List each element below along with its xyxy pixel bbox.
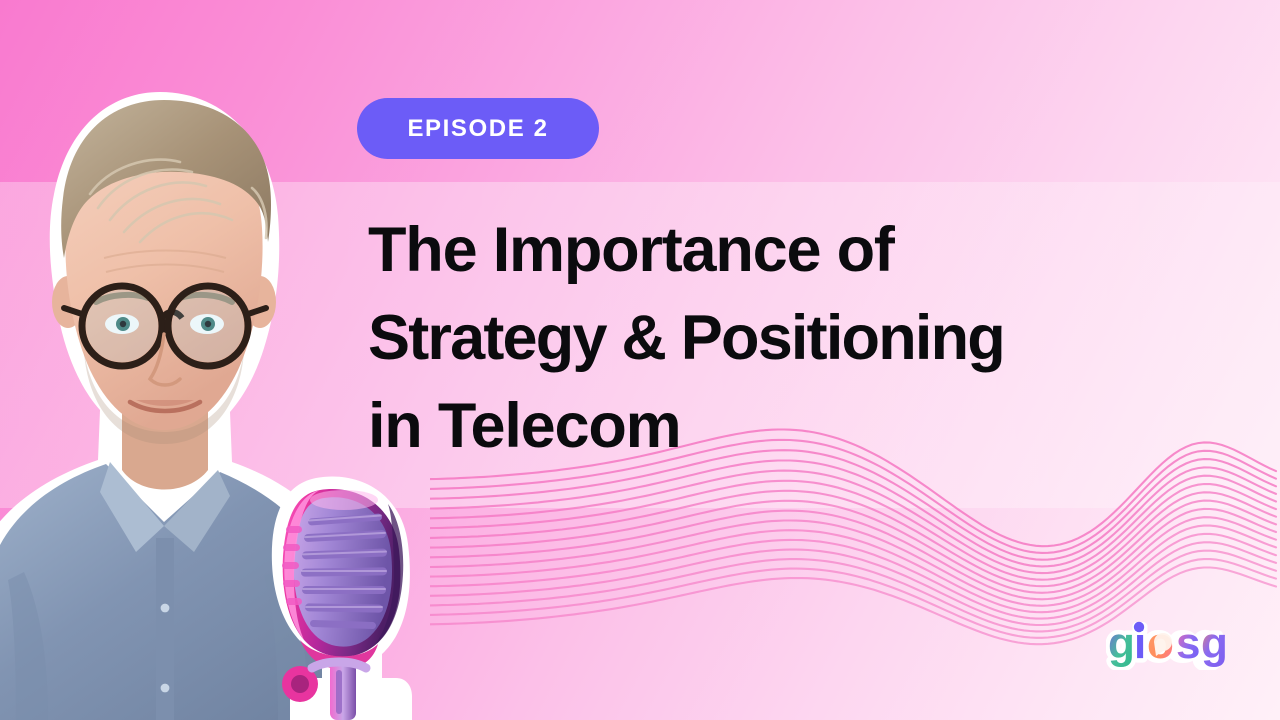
page-title: The Importance of Strategy & Positioning… <box>368 206 1248 470</box>
microphone-stem <box>330 662 356 720</box>
logo-letter-g2: g <box>1201 619 1227 668</box>
episode-badge-label: EPISODE 2 <box>407 115 548 143</box>
logo-i-dot <box>1134 622 1144 632</box>
logo-letter-g1: g <box>1108 619 1134 668</box>
episode-badge[interactable]: EPISODE 2 <box>357 98 599 159</box>
giosg-logo[interactable]: giosg g i o s g <box>1106 614 1248 670</box>
microphone-icon <box>256 472 432 720</box>
page-title-line-2: Strategy & Positioning <box>368 294 1248 382</box>
portrait-shirt-button <box>161 684 170 693</box>
logo-letter-s: s <box>1176 619 1199 668</box>
page-title-line-1: The Importance of <box>368 206 1248 294</box>
microphone-top-glint <box>310 490 378 510</box>
podcast-cover-canvas: EPISODE 2 The Importance of Strategy & P… <box>0 0 1280 720</box>
portrait-shirt-button <box>161 604 170 613</box>
page-title-line-3: in Telecom <box>368 382 1248 470</box>
portrait-shirt-placket <box>156 538 174 720</box>
